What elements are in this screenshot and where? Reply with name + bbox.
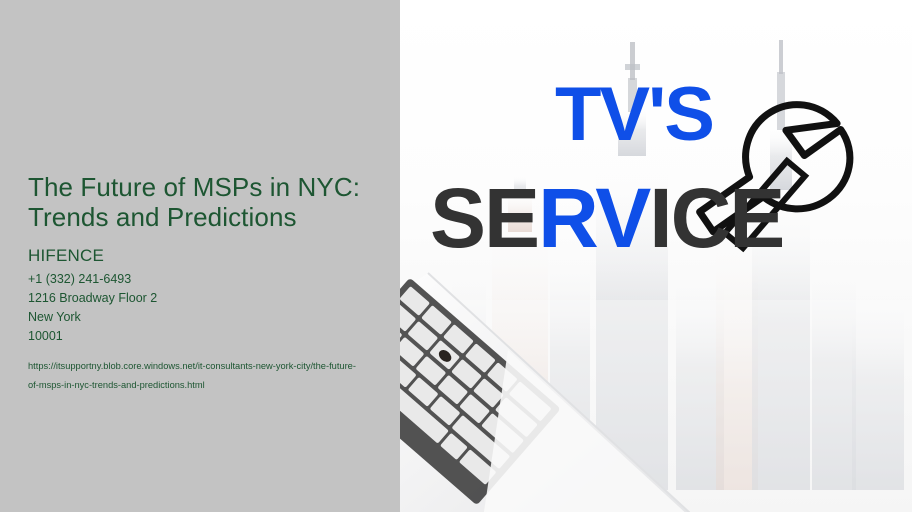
company-name: HIFENCE [28, 246, 382, 266]
article-url[interactable]: https://itsupportny.blob.core.windows.ne… [28, 357, 358, 395]
company-street: 1216 Broadway Floor 2 [28, 289, 382, 308]
company-phone: +1 (332) 241-6493 [28, 270, 382, 289]
info-panel: The Future of MSPs in NYC: Trends and Pr… [0, 0, 400, 512]
promo-card: The Future of MSPs in NYC: Trends and Pr… [0, 0, 912, 512]
laptop-keyboard-icon [400, 255, 690, 512]
hero-image-panel: TV'S SERVICE [400, 0, 912, 512]
company-zip: 10001 [28, 327, 382, 346]
company-city: New York [28, 308, 382, 327]
page-title: The Future of MSPs in NYC: Trends and Pr… [28, 172, 368, 232]
info-content: The Future of MSPs in NYC: Trends and Pr… [28, 172, 382, 395]
